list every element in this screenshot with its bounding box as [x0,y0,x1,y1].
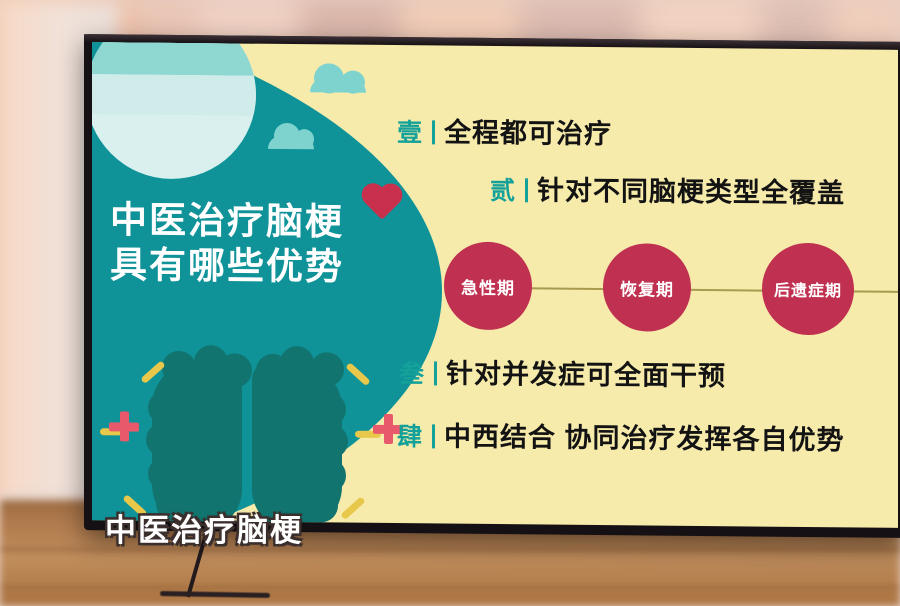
bullet-separator-2 [525,178,528,202]
cloud-small-2 [310,78,366,93]
slide-title-line1: 中医治疗脑梗 [110,197,410,245]
plus-icon-left [109,411,139,441]
bullet-text-1: 全程都可治疗 [444,111,612,152]
bullet-text-2: 针对不同脑梗类型全覆盖 [537,168,845,210]
slide-title: 中医治疗脑梗 具有哪些优势 [110,197,410,290]
stage-label-recovery: 恢复期 [620,275,674,301]
bullet-numeral-2: 贰 [490,171,516,207]
bullet-point-2: 贰 针对不同脑梗类型全覆盖 [490,168,845,210]
bullet-point-1: 壹 全程都可治疗 [397,110,612,151]
bullet-separator-3 [434,361,437,385]
floor-seam-secondary [0,586,900,589]
video-caption: 中医治疗脑梗 [105,505,303,550]
stage-circle-recovery: 恢复期 [603,243,691,332]
bullet-text-3: 针对并发症可全面干预 [446,352,726,394]
cloud-circle-mid-band [92,74,256,116]
stage-label-sequelae: 后遗症期 [774,277,842,302]
bullet-separator-4 [432,424,435,448]
spark-dash-6 [340,496,365,520]
bullet-numeral-4: 肆 [397,417,423,453]
bullet-numeral-1: 壹 [397,113,423,149]
tv-screen: 中医治疗脑梗 具有哪些优势 壹 全程都可治疗 贰 针对不同脑梗类型全覆盖 叁 针… [92,42,898,528]
stage-timeline: 急性期 恢复期 后遗症期 [444,242,898,342]
bullet-point-3: 叁 针对并发症可全面干预 [399,351,726,393]
cloud-lump-3 [192,42,250,60]
stage-connector-2 [682,289,770,292]
brain-illustration [152,361,342,528]
stage-connector-1 [524,287,612,290]
bullet-text-4: 中西结合 协同治疗发挥各自优势 [444,415,845,458]
stage-circle-acute: 急性期 [444,242,532,331]
slide-canvas: 中医治疗脑梗 具有哪些优势 壹 全程都可治疗 贰 针对不同脑梗类型全覆盖 叁 针… [92,42,898,528]
stage-label-acute: 急性期 [461,273,515,299]
cloud-small-1 [268,136,314,149]
screenshot-scene: 中医治疗脑梗 具有哪些优势 壹 全程都可治疗 贰 针对不同脑梗类型全覆盖 叁 针… [0,0,900,606]
bullet-point-4: 肆 中西结合 协同治疗发挥各自优势 [397,414,845,457]
bullet-numeral-3: 叁 [399,354,425,390]
slide-title-line2: 具有哪些优势 [110,242,410,290]
bullet-separator-1 [432,120,435,144]
stage-circle-sequelae: 后遗症期 [762,243,854,336]
